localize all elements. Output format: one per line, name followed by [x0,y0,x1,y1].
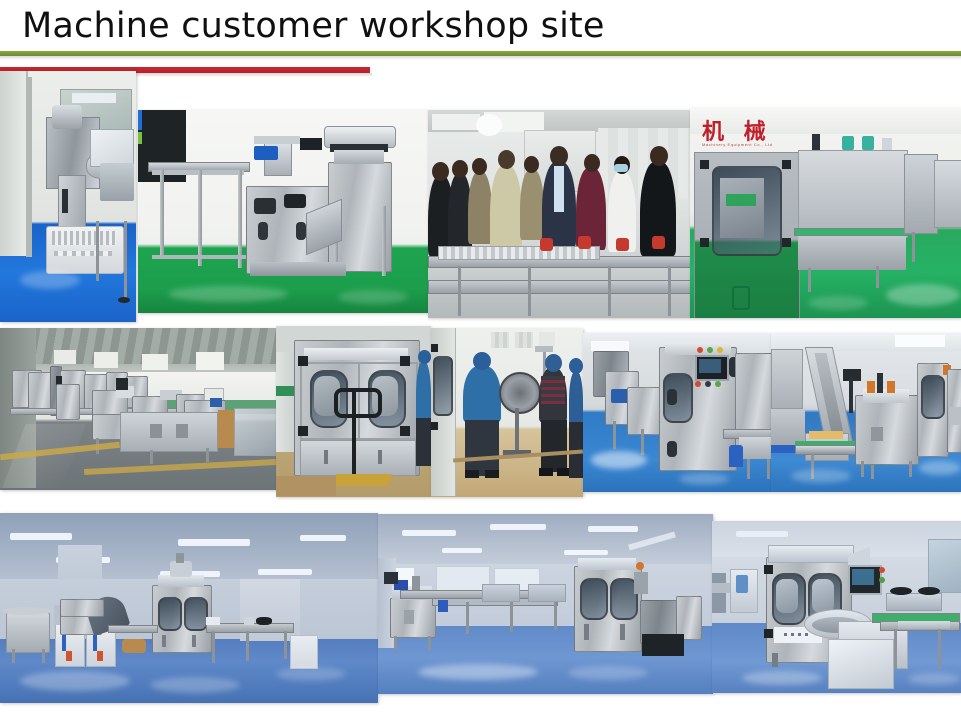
page-title: Machine customer workshop site [22,4,605,48]
gallery-photo-9[interactable] [771,333,961,492]
photo-2-scene [138,110,428,313]
gallery-photo-6[interactable] [276,326,431,497]
slide-canvas: Machine customer workshop site [0,0,961,714]
photo-4-sign-subtext: Machinery Equipment Co., Ltd [702,142,773,147]
photo-12-scene [712,521,961,693]
gallery-photo-5[interactable] [0,328,276,490]
gallery-photo-4[interactable]: 机 械 Machinery Equipment Co., Ltd [690,108,961,318]
gallery-photo-11[interactable] [378,514,713,694]
gallery-photo-10[interactable] [0,513,378,703]
photo-1-scene [0,71,136,322]
gallery-photo-2[interactable] [138,110,428,313]
photo-10-scene [0,513,378,703]
photo-4-scene: 机 械 Machinery Equipment Co., Ltd [690,108,961,318]
photo-7-scene [431,328,583,497]
photo-9-scene [771,333,961,492]
gallery-photo-12[interactable] [712,521,961,693]
photo-8-scene [583,333,771,492]
gallery-photo-7[interactable] [431,328,583,497]
photo-7-worker [463,366,501,422]
photo-6-scene [276,326,431,497]
gallery-photo-1[interactable] [0,71,136,322]
gallery-photo-3[interactable] [428,110,690,318]
gallery-photo-8[interactable] [583,333,771,492]
photo-11-scene [378,514,713,694]
title-divider-green-shadow [0,56,961,60]
photo-3-scene [428,110,690,318]
photo-5-scene [0,328,276,490]
